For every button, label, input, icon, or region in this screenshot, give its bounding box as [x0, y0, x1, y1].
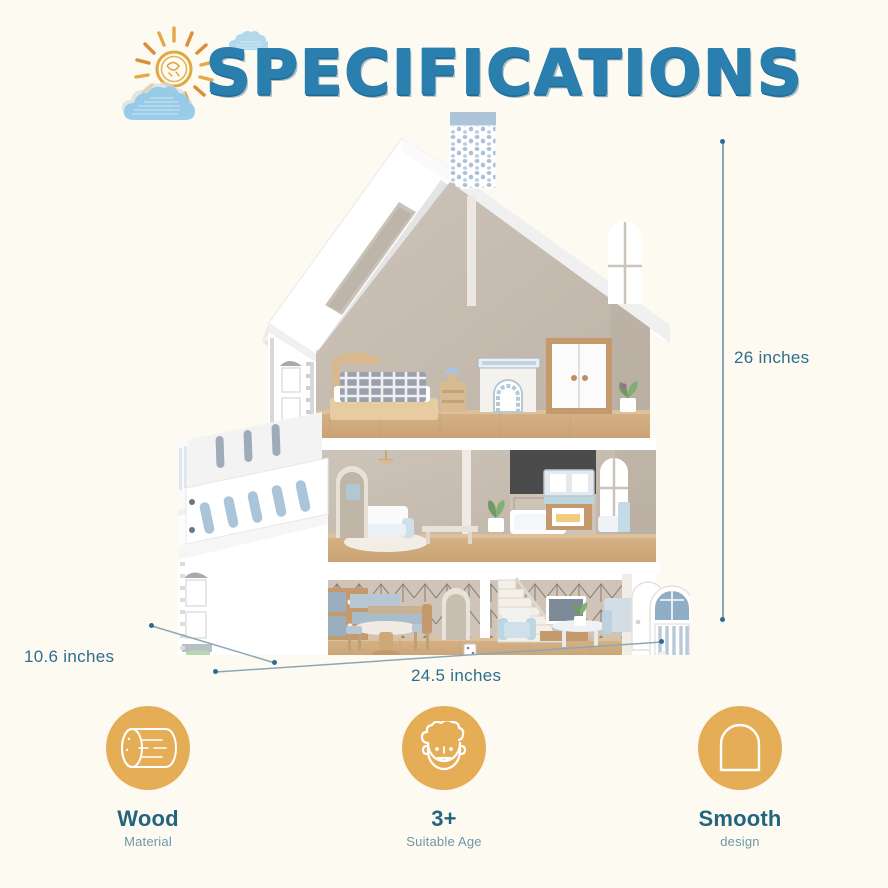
feature-title-wood: Wood	[117, 806, 178, 832]
specifications-infographic: SPECIFICATIONS	[0, 0, 888, 888]
width-dimension-label: 24.5 inches	[411, 666, 501, 686]
arch-shape-icon	[715, 722, 765, 774]
dollhouse-illustration	[150, 110, 690, 655]
feature-subtitle-age: Suitable Age	[406, 834, 481, 849]
feature-subtitle-design: design	[720, 834, 760, 849]
depth-dimension-label: 10.6 inches	[24, 647, 114, 667]
dollhouse-product-image	[150, 110, 690, 655]
depth-dimension-dot-top	[149, 623, 154, 628]
feature-item-age: 3+ Suitable Age	[296, 706, 592, 888]
feature-title-age: 3+	[431, 806, 456, 832]
feature-circle-design	[698, 706, 782, 790]
height-dimension-label: 26 inches	[734, 348, 809, 368]
feature-title-design: Smooth	[698, 806, 781, 832]
feature-item-design: Smooth design	[592, 706, 888, 888]
feature-circle-age	[402, 706, 486, 790]
child-face-icon	[416, 721, 472, 775]
width-dimension-dot-left	[213, 669, 218, 674]
width-dimension-dot-right	[659, 639, 664, 644]
wood-log-icon	[118, 725, 178, 771]
feature-subtitle-wood: Material	[124, 834, 172, 849]
height-dimension-line	[722, 142, 724, 620]
feature-item-wood: Wood Material	[0, 706, 296, 888]
feature-badges: Wood Material	[0, 706, 888, 888]
feature-circle-wood	[106, 706, 190, 790]
height-dimension-dot-bottom	[720, 617, 725, 622]
height-dimension-dot-top	[720, 139, 725, 144]
title-block: SPECIFICATIONS	[0, 0, 888, 128]
page-title: SPECIFICATIONS	[206, 36, 804, 109]
